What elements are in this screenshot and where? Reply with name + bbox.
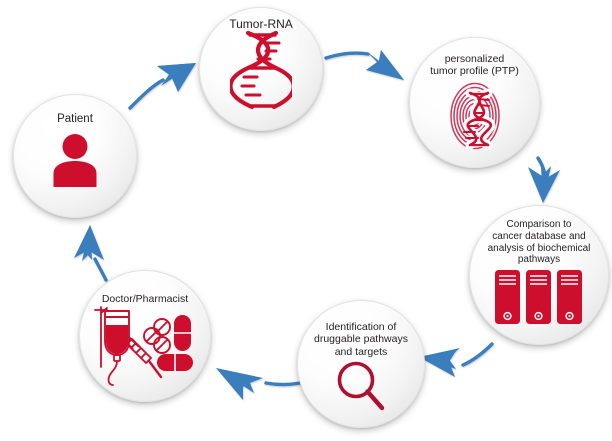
node-comparison[interactable]: Comparison to cancer database and analys… bbox=[469, 205, 609, 345]
fingerprint-dna-icon bbox=[444, 79, 506, 153]
iv-bag-syringe-pills-icon bbox=[91, 305, 199, 389]
node-ptp-label: personalized tumor profile (PTP) bbox=[430, 53, 519, 78]
node-doctor[interactable]: Doctor/Pharmacist bbox=[79, 270, 211, 402]
arrow-comparison-to-identification bbox=[419, 344, 492, 377]
arrow-patient-to-tumor-rna bbox=[130, 63, 196, 108]
node-identification[interactable]: Identification of druggable pathways and… bbox=[297, 300, 425, 428]
node-comparison-label: Comparison to cancer database and analys… bbox=[488, 219, 591, 266]
dna-helix-icon bbox=[230, 29, 292, 111]
arrow-tumor-rna-to-ptp bbox=[326, 50, 404, 80]
diagram-canvas: Patient Tumor-RNA bbox=[0, 0, 612, 441]
node-tumor-rna[interactable]: Tumor-RNA bbox=[199, 7, 323, 131]
node-identification-label: Identification of druggable pathways and… bbox=[314, 321, 408, 358]
database-servers-icon bbox=[494, 269, 584, 325]
arrow-doctor-to-patient bbox=[74, 225, 106, 280]
magnifier-icon bbox=[336, 360, 386, 412]
node-patient[interactable]: Patient bbox=[13, 94, 137, 218]
node-doctor-label: Doctor/Pharmacist bbox=[102, 293, 188, 305]
node-patient-label: Patient bbox=[57, 113, 93, 127]
node-ptp[interactable]: personalized tumor profile (PTP) bbox=[409, 37, 540, 168]
arrow-ptp-to-comparison bbox=[528, 158, 560, 203]
person-icon bbox=[47, 131, 103, 187]
arrow-identification-to-doctor bbox=[216, 368, 300, 400]
